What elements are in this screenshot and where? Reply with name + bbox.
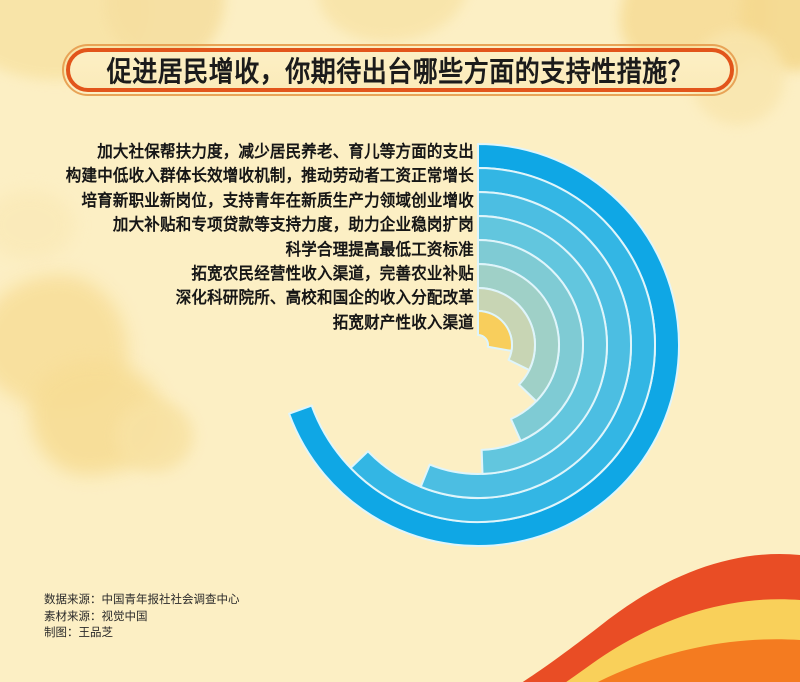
title-banner: 促进居民增收，你期待出台哪些方面的支持性措施？ bbox=[62, 44, 738, 96]
option-label-2: 构建中低收入群体长效增收机制，推动劳动者工资正常增长 bbox=[20, 165, 478, 191]
option-label-4: 加大补贴和专项贷款等支持力度，助力企业稳岗扩岗 bbox=[20, 213, 478, 239]
footer-line-material-source: 素材来源：视觉中国 bbox=[44, 609, 240, 626]
option-label-7: 深化科研院所、高校和国企的收入分配改革 bbox=[20, 287, 478, 313]
option-label-3: 培育新职业新岗位，支持青年在新质生产力领域创业增收 bbox=[20, 189, 478, 215]
option-label-8: 拓宽财产性收入渠道 bbox=[20, 311, 478, 337]
footer-credits: 数据来源：中国青年报社社会调查中心 素材来源：视觉中国 制图：王品芝 bbox=[44, 592, 240, 642]
footer-line-author: 制图：王品芝 bbox=[44, 625, 240, 642]
footer-line-data-source: 数据来源：中国青年报社社会调查中心 bbox=[44, 592, 240, 609]
option-label-list: 加大社保帮扶力度，减少居民养老、育儿等方面的支出 构建中低收入群体长效增收机制，… bbox=[20, 141, 478, 336]
title-pill: 促进居民增收，你期待出台哪些方面的支持性措施？ bbox=[66, 48, 734, 92]
infographic-canvas: 促进居民增收，你期待出台哪些方面的支持性措施？ 加大社保帮扶力度，减少居民养老、… bbox=[0, 0, 800, 682]
option-label-1: 加大社保帮扶力度，减少居民养老、育儿等方面的支出 bbox=[20, 140, 478, 166]
option-label-5: 科学合理提高最低工资标准 bbox=[20, 238, 478, 264]
page-title: 促进居民增收，你期待出台哪些方面的支持性措施？ bbox=[107, 50, 694, 90]
radial-bar-chart bbox=[0, 0, 800, 682]
option-label-6: 拓宽农民经营性收入渠道，完善农业补贴 bbox=[20, 262, 478, 288]
